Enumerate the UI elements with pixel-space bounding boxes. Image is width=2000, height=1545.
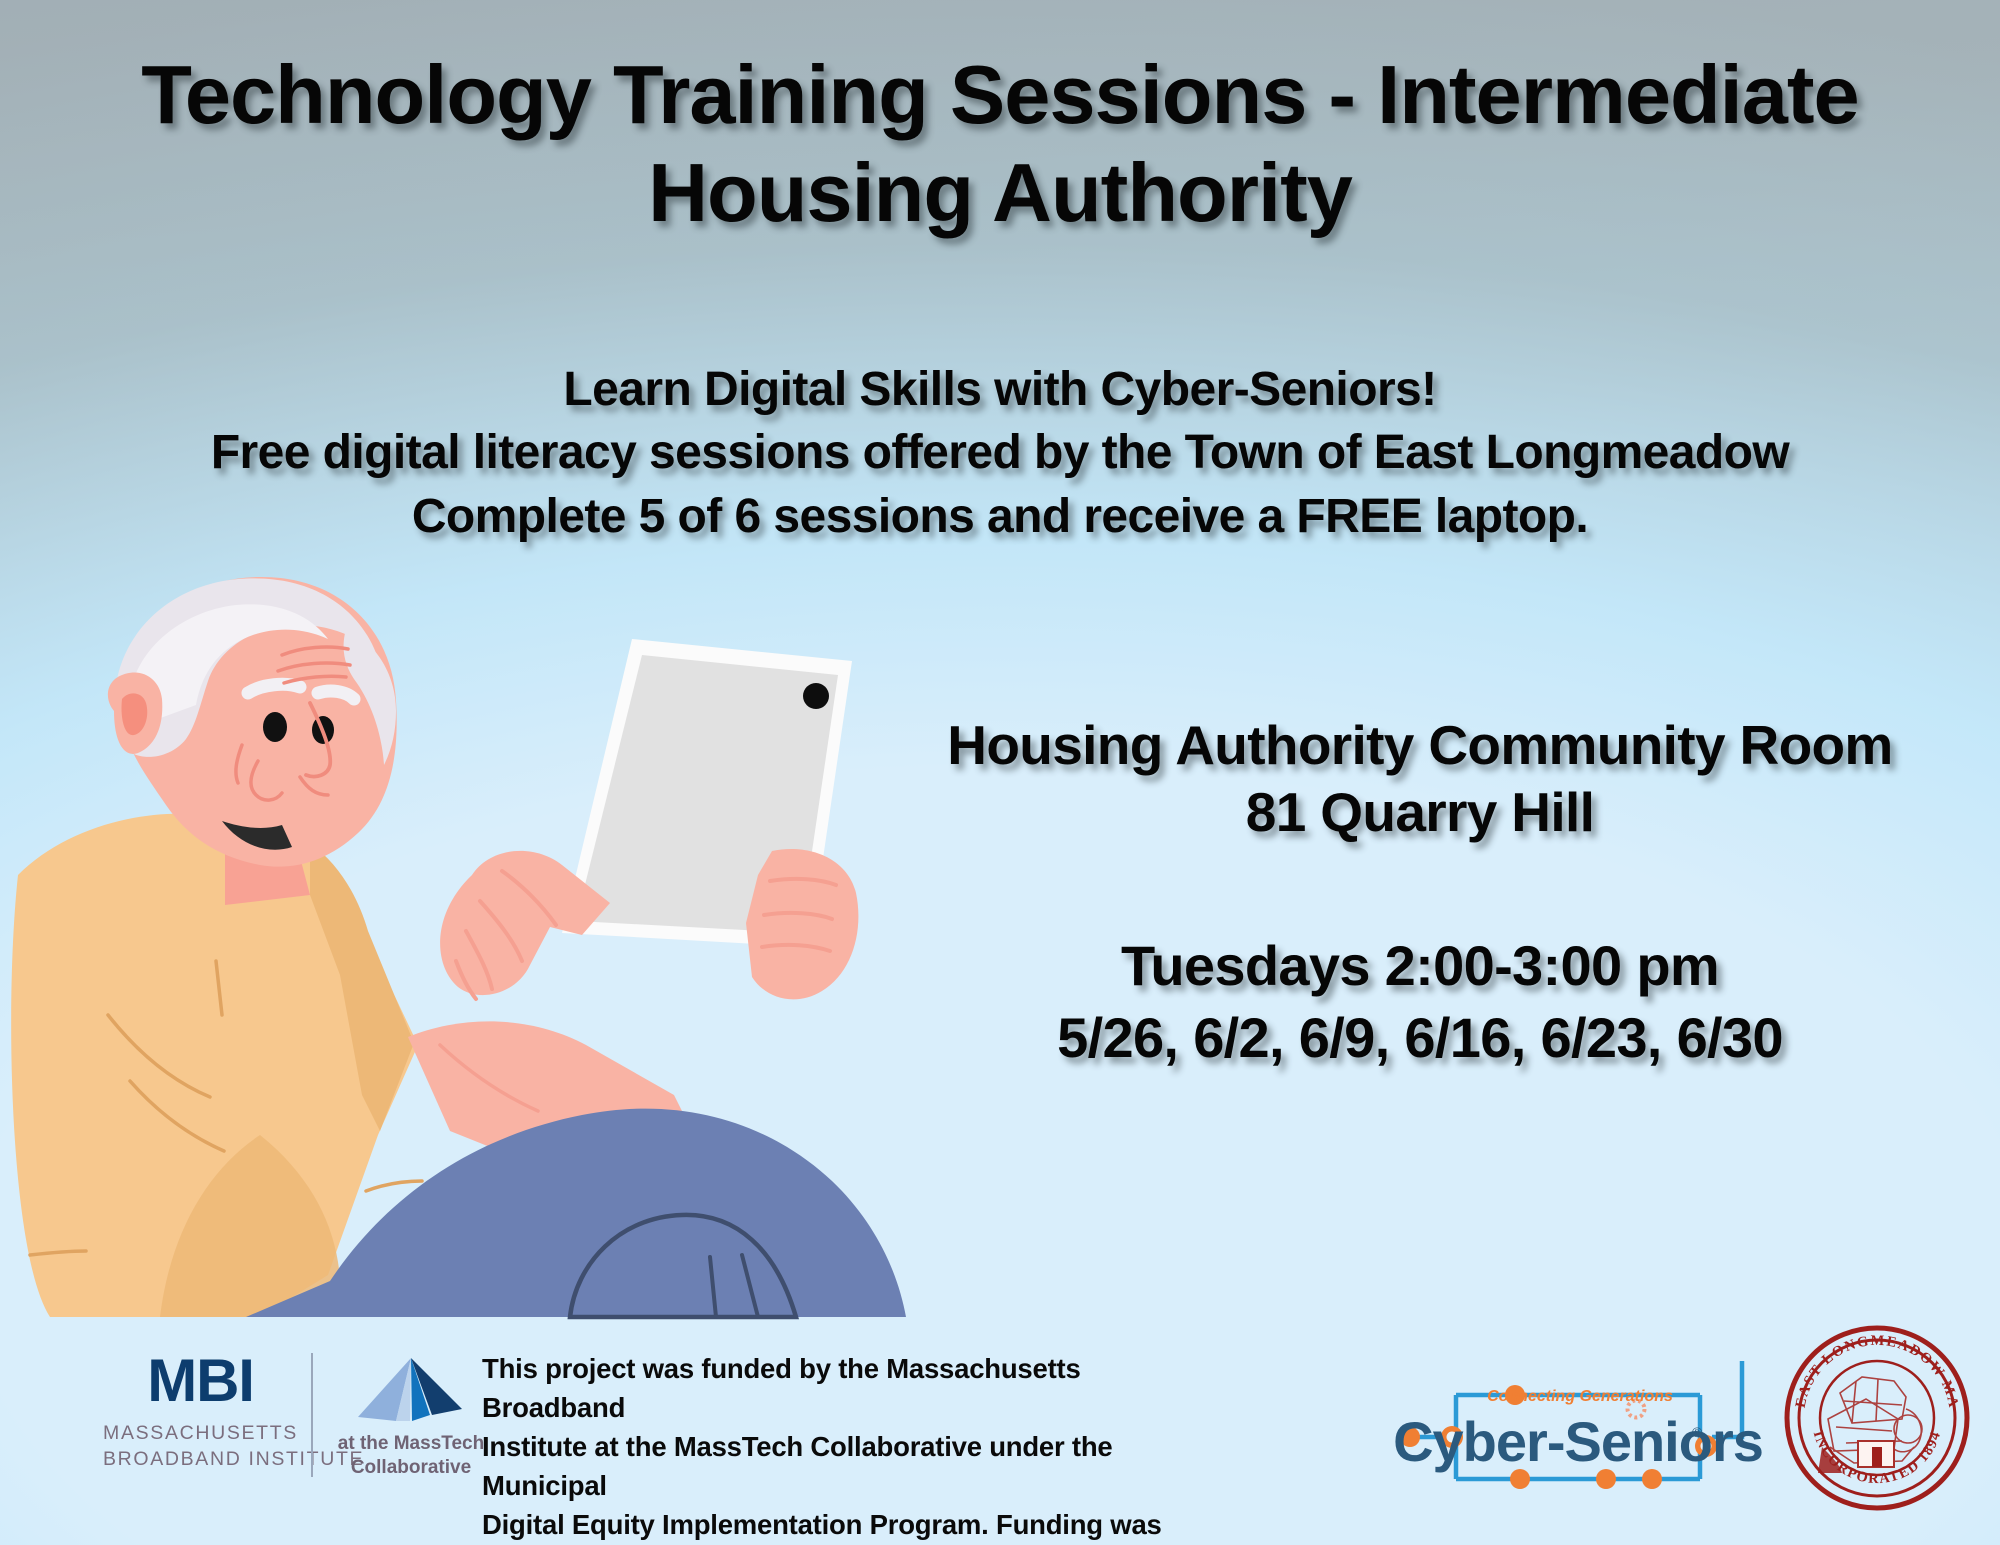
schedule-dates: 5/26, 6/2, 6/9, 6/16, 6/23, 6/30 (860, 1002, 1980, 1074)
intro-line-3: Complete 5 of 6 sessions and receive a F… (70, 485, 1930, 548)
east-longmeadow-town-seal: · EAST LONGMEADOW MA · INCORPORATED 1894 (1782, 1323, 1972, 1513)
page-title: Technology Training Sessions - Intermedi… (0, 46, 2000, 242)
senior-man-tablet-illustration (10, 575, 920, 1330)
intro-line-2: Free digital literacy sessions offered b… (70, 421, 1930, 484)
masstech-line-1: at the MassTech (335, 1432, 487, 1456)
funding-statement: This project was funded by the Massachus… (482, 1349, 1182, 1545)
mbi-wordmark: MBI (103, 1351, 298, 1411)
registered-trademark-icon: ® (1692, 1424, 1703, 1440)
title-line-1: Technology Training Sessions - Intermedi… (141, 48, 1858, 141)
poster-canvas: Technology Training Sessions - Intermedi… (0, 0, 2000, 1545)
funding-line-3: Digital Equity Implementation Program. F… (482, 1505, 1182, 1544)
masstech-lockup: at the MassTech Collaborative (335, 1355, 487, 1480)
intro-text: Learn Digital Skills with Cyber-Seniors!… (0, 358, 2000, 548)
intro-line-1: Learn Digital Skills with Cyber-Seniors! (70, 358, 1930, 421)
venue-line-1: Housing Authority Community Room (860, 712, 1980, 779)
masstech-line-2: Collaborative (335, 1456, 487, 1480)
mbi-logo: MBI MASSACHUSETTS BROADBAND INSTITUTE at… (103, 1351, 488, 1491)
cyber-seniors-tagline: Connecting Generations (1487, 1388, 1673, 1405)
mbi-mark: MBI MASSACHUSETTS BROADBAND INSTITUTE (103, 1351, 298, 1472)
venue-text: Housing Authority Community Room 81 Quar… (860, 712, 1980, 846)
mbi-subtitle-line-2: BROADBAND INSTITUTE (103, 1447, 298, 1473)
mbi-subtitle-line-1: MASSACHUSETTS (103, 1421, 298, 1447)
logo-divider (311, 1353, 313, 1477)
cyber-seniors-wordmark: Cyber-Seniors (1393, 1410, 1763, 1473)
masstech-subtitle: at the MassTech Collaborative (335, 1432, 487, 1480)
funding-line-1: This project was funded by the Massachus… (482, 1349, 1182, 1427)
cyber-seniors-logo: Connecting Generations Cyber-Seniors ® (1370, 1361, 1790, 1511)
schedule-time: Tuesdays 2:00-3:00 pm (860, 930, 1980, 1002)
schedule-text: Tuesdays 2:00-3:00 pm 5/26, 6/2, 6/9, 6/… (860, 930, 1980, 1073)
title-line-2: Housing Authority (648, 146, 1352, 239)
masstech-arrow-icon (356, 1355, 466, 1425)
mbi-subtitle: MASSACHUSETTS BROADBAND INSTITUTE (103, 1421, 298, 1472)
funding-line-2: Institute at the MassTech Collaborative … (482, 1427, 1182, 1505)
footer: MBI MASSACHUSETTS BROADBAND INSTITUTE at… (0, 1313, 2000, 1545)
venue-line-2: 81 Quarry Hill (860, 779, 1980, 846)
